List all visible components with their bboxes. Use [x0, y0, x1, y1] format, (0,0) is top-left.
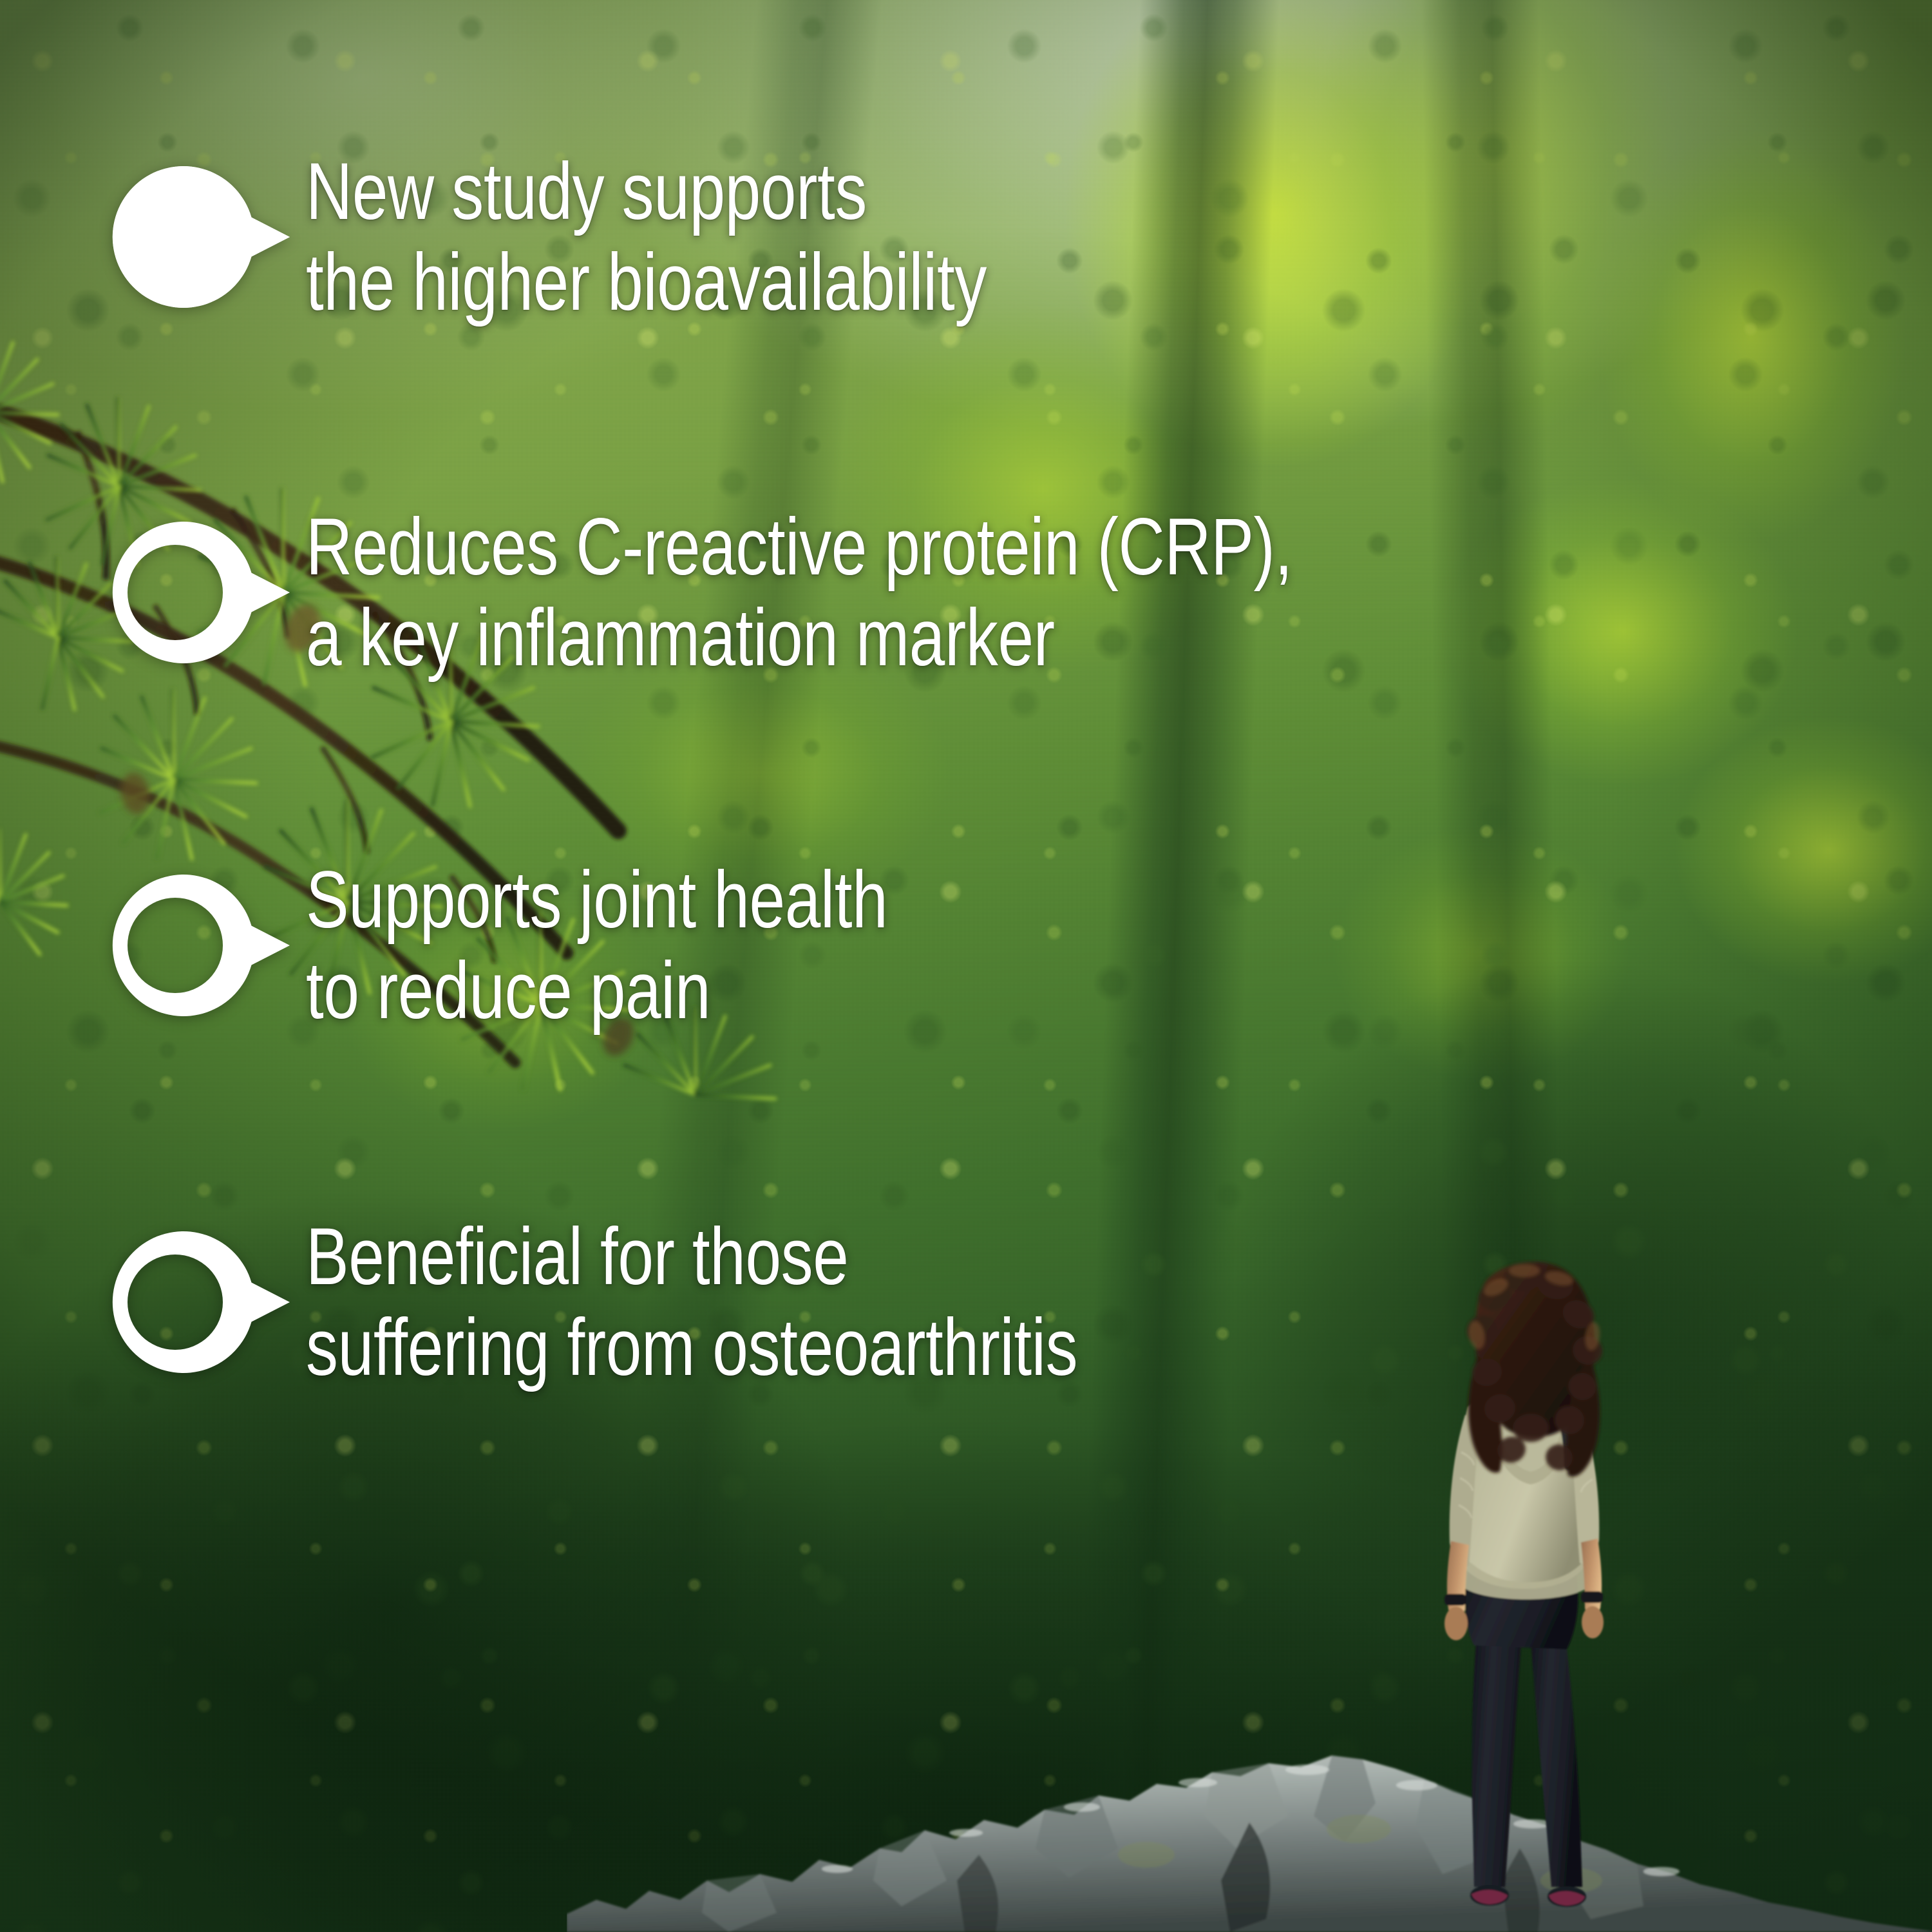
ring-pointer-icon [97, 1206, 290, 1399]
ring-pointer-icon [97, 140, 290, 334]
list-item: New study supports the higher bioavailab… [0, 140, 1157, 334]
list-item-text: Beneficial for those suffering from oste… [306, 1211, 1077, 1394]
list-item-text: New study supports the higher bioavailab… [306, 146, 987, 328]
ring-pointer-icon [97, 496, 290, 689]
list-item: Supports joint health to reduce pain [0, 849, 1033, 1042]
infographic-canvas: New study supports the higher bioavailab… [0, 0, 1932, 1932]
list-item-text: Reduces C-reactive protein (CRP), a key … [306, 502, 1293, 684]
list-item: Beneficial for those suffering from oste… [0, 1206, 1271, 1399]
ring-pointer-icon [97, 849, 290, 1042]
list-item: Reduces C-reactive protein (CRP), a key … [0, 496, 1539, 689]
benefits-list: New study supports the higher bioavailab… [0, 0, 1932, 1932]
list-item-text: Supports joint health to reduce pain [306, 855, 887, 1037]
